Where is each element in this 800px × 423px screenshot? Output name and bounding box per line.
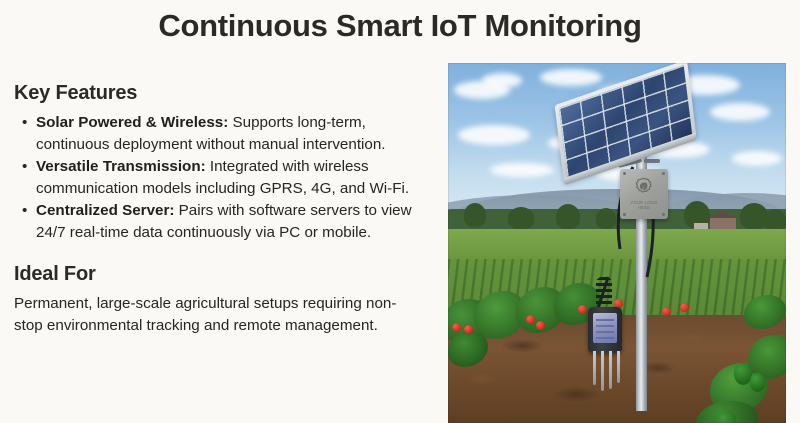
ideal-for-body: Permanent, large-scale agricultural setu… (14, 293, 409, 336)
screw (662, 213, 665, 216)
tomato-fruit (452, 323, 461, 332)
sensor-prong (609, 351, 612, 389)
cloud (732, 151, 782, 166)
tomato-fruit (578, 305, 587, 314)
ideal-for-heading: Ideal For (14, 261, 434, 287)
feature-lead: Centralized Server: (36, 202, 174, 219)
cloud (458, 125, 530, 145)
key-features-heading: Key Features (14, 80, 434, 106)
farmhouse-roof (709, 210, 737, 218)
bullet-icon: • (22, 200, 27, 222)
tree (464, 203, 486, 227)
pepper-fruit (716, 411, 736, 423)
tree (596, 208, 616, 229)
screw (623, 172, 626, 175)
list-item: • Centralized Server: Pairs with softwar… (14, 200, 434, 243)
content-left-column: Key Features • Solar Powered & Wireless:… (14, 80, 434, 336)
cable-coil (596, 277, 612, 309)
bullet-icon: • (22, 112, 27, 134)
gear-leaf-icon (633, 176, 655, 198)
tomato-fruit (662, 307, 671, 316)
tree (764, 209, 786, 231)
ideal-for-section: Ideal For Permanent, large-scale agricul… (14, 261, 434, 336)
cloud (540, 69, 602, 86)
sensor-enclosure: YOUR LOGO HERE (620, 169, 668, 219)
enclosure-logo-text: YOUR LOGO HERE (620, 200, 668, 210)
key-features-list: • Solar Powered & Wireless: Supports lon… (14, 112, 434, 243)
cloud (710, 103, 770, 121)
soil-sensor-probe (588, 307, 622, 353)
sensor-prong (617, 351, 620, 383)
feature-lead: Versatile Transmission: (36, 158, 206, 175)
list-item: • Versatile Transmission: Integrated wit… (14, 156, 434, 199)
screw (662, 172, 665, 175)
page-title: Continuous Smart IoT Monitoring (0, 4, 800, 48)
sensor-prong (601, 351, 604, 391)
tree (508, 207, 534, 229)
product-photo: YOUR LOGO HERE (448, 63, 786, 423)
cloud (482, 73, 522, 88)
pepper-fruit (750, 373, 765, 392)
cloud (490, 163, 554, 177)
sensor-prong (593, 351, 596, 385)
screw (623, 213, 626, 216)
tomato-fruit (526, 315, 535, 324)
bullet-icon: • (22, 156, 27, 178)
tomato-fruit (536, 321, 545, 330)
feature-lead: Solar Powered & Wireless: (36, 114, 228, 131)
tomato-fruit (680, 303, 689, 312)
enclosure-logo-line2: HERE (620, 205, 668, 210)
sensor-display (593, 313, 617, 343)
list-item: • Solar Powered & Wireless: Supports lon… (14, 112, 434, 155)
slide-root: Continuous Smart IoT Monitoring Key Feat… (0, 0, 800, 415)
photo-scene: YOUR LOGO HERE (448, 63, 786, 423)
tomato-fruit (464, 325, 473, 334)
tree (556, 204, 580, 229)
